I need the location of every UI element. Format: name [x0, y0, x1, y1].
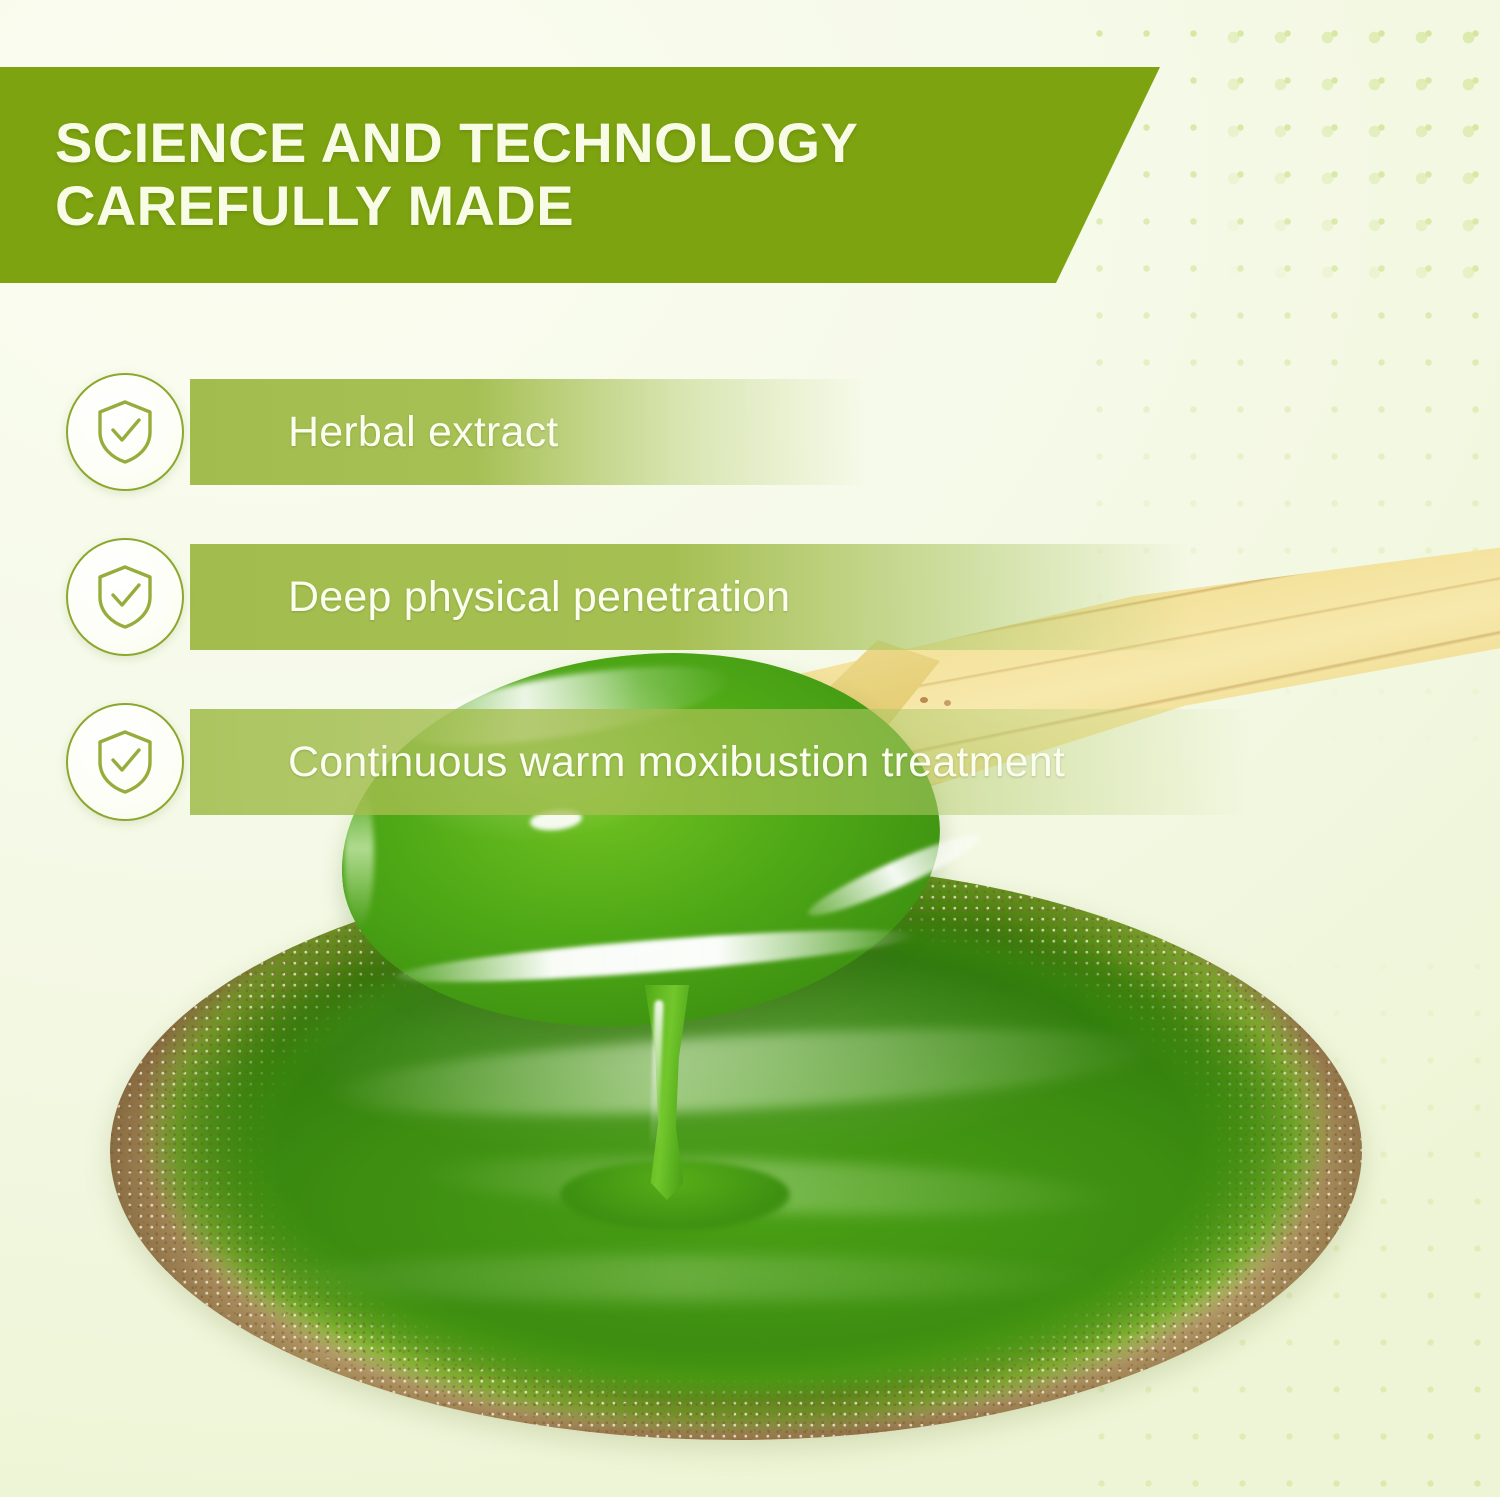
shield-check-icon	[66, 373, 184, 491]
feature-bar-2: Deep physical penetration	[190, 544, 1190, 650]
shield-check-icon	[66, 538, 184, 656]
feature-label-1: Herbal extract	[190, 408, 558, 457]
shield-check-icon	[66, 703, 184, 821]
feature-item-moxibustion: Continuous warm moxibustion treatment	[66, 702, 184, 822]
feature-bar-3: Continuous warm moxibustion treatment	[190, 709, 1250, 815]
feature-label-3: Continuous warm moxibustion treatment	[190, 738, 1065, 787]
feature-item-herbal-extract: Herbal extract	[66, 372, 184, 492]
promo-banner-page: SCIENCE AND TECHNOLOGY CAREFULLY MADE He…	[0, 0, 1500, 1497]
feature-label-2: Deep physical penetration	[190, 573, 790, 622]
feature-item-deep-penetration: Deep physical penetration	[66, 537, 184, 657]
feature-bar-1: Herbal extract	[190, 379, 870, 485]
feature-list: Herbal extract Deep physical penetration	[0, 0, 1500, 1497]
